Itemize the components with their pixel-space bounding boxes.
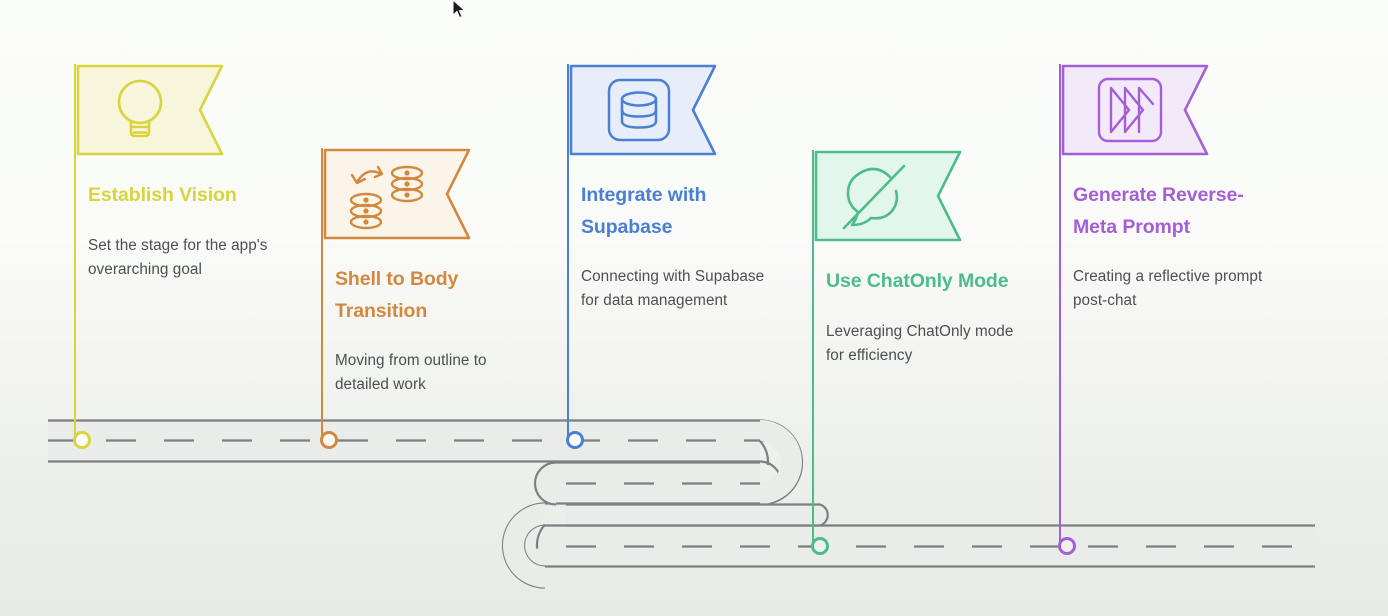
milestone-description: Set the stage for the app's overarching … [88,234,278,282]
milestone-title: Use ChatOnly Mode [826,266,1016,298]
flag-banner [76,64,224,156]
milestone-description: Connecting with Supabase for data manage… [581,265,771,313]
flag-banner [1061,64,1209,156]
mouse-cursor [451,0,467,21]
milestone-text: Shell to Body Transition Moving from out… [335,264,525,397]
milestone-title: Establish Vision [88,180,278,212]
milestone-text: Establish Vision Set the stage for the a… [88,180,278,282]
flag-banner [323,148,471,240]
milestone-title: Shell to Body Transition [335,264,525,327]
flag-banner [814,150,962,242]
flag-banner [569,64,717,156]
milestone-text: Generate Reverse-Meta Prompt Creating a … [1073,180,1263,313]
milestone-text: Use ChatOnly Mode Leveraging ChatOnly mo… [826,266,1016,368]
milestone-text: Integrate with Supabase Connecting with … [581,180,771,313]
milestone-description: Moving from outline to detailed work [335,349,525,397]
milestone-description: Leveraging ChatOnly mode for efficiency [826,320,1016,368]
milestone-title: Generate Reverse-Meta Prompt [1073,180,1263,243]
roadmap-diagram: Establish Vision Set the stage for the a… [0,0,1388,616]
milestone-description: Creating a reflective prompt post-chat [1073,265,1263,313]
milestone-title: Integrate with Supabase [581,180,771,243]
